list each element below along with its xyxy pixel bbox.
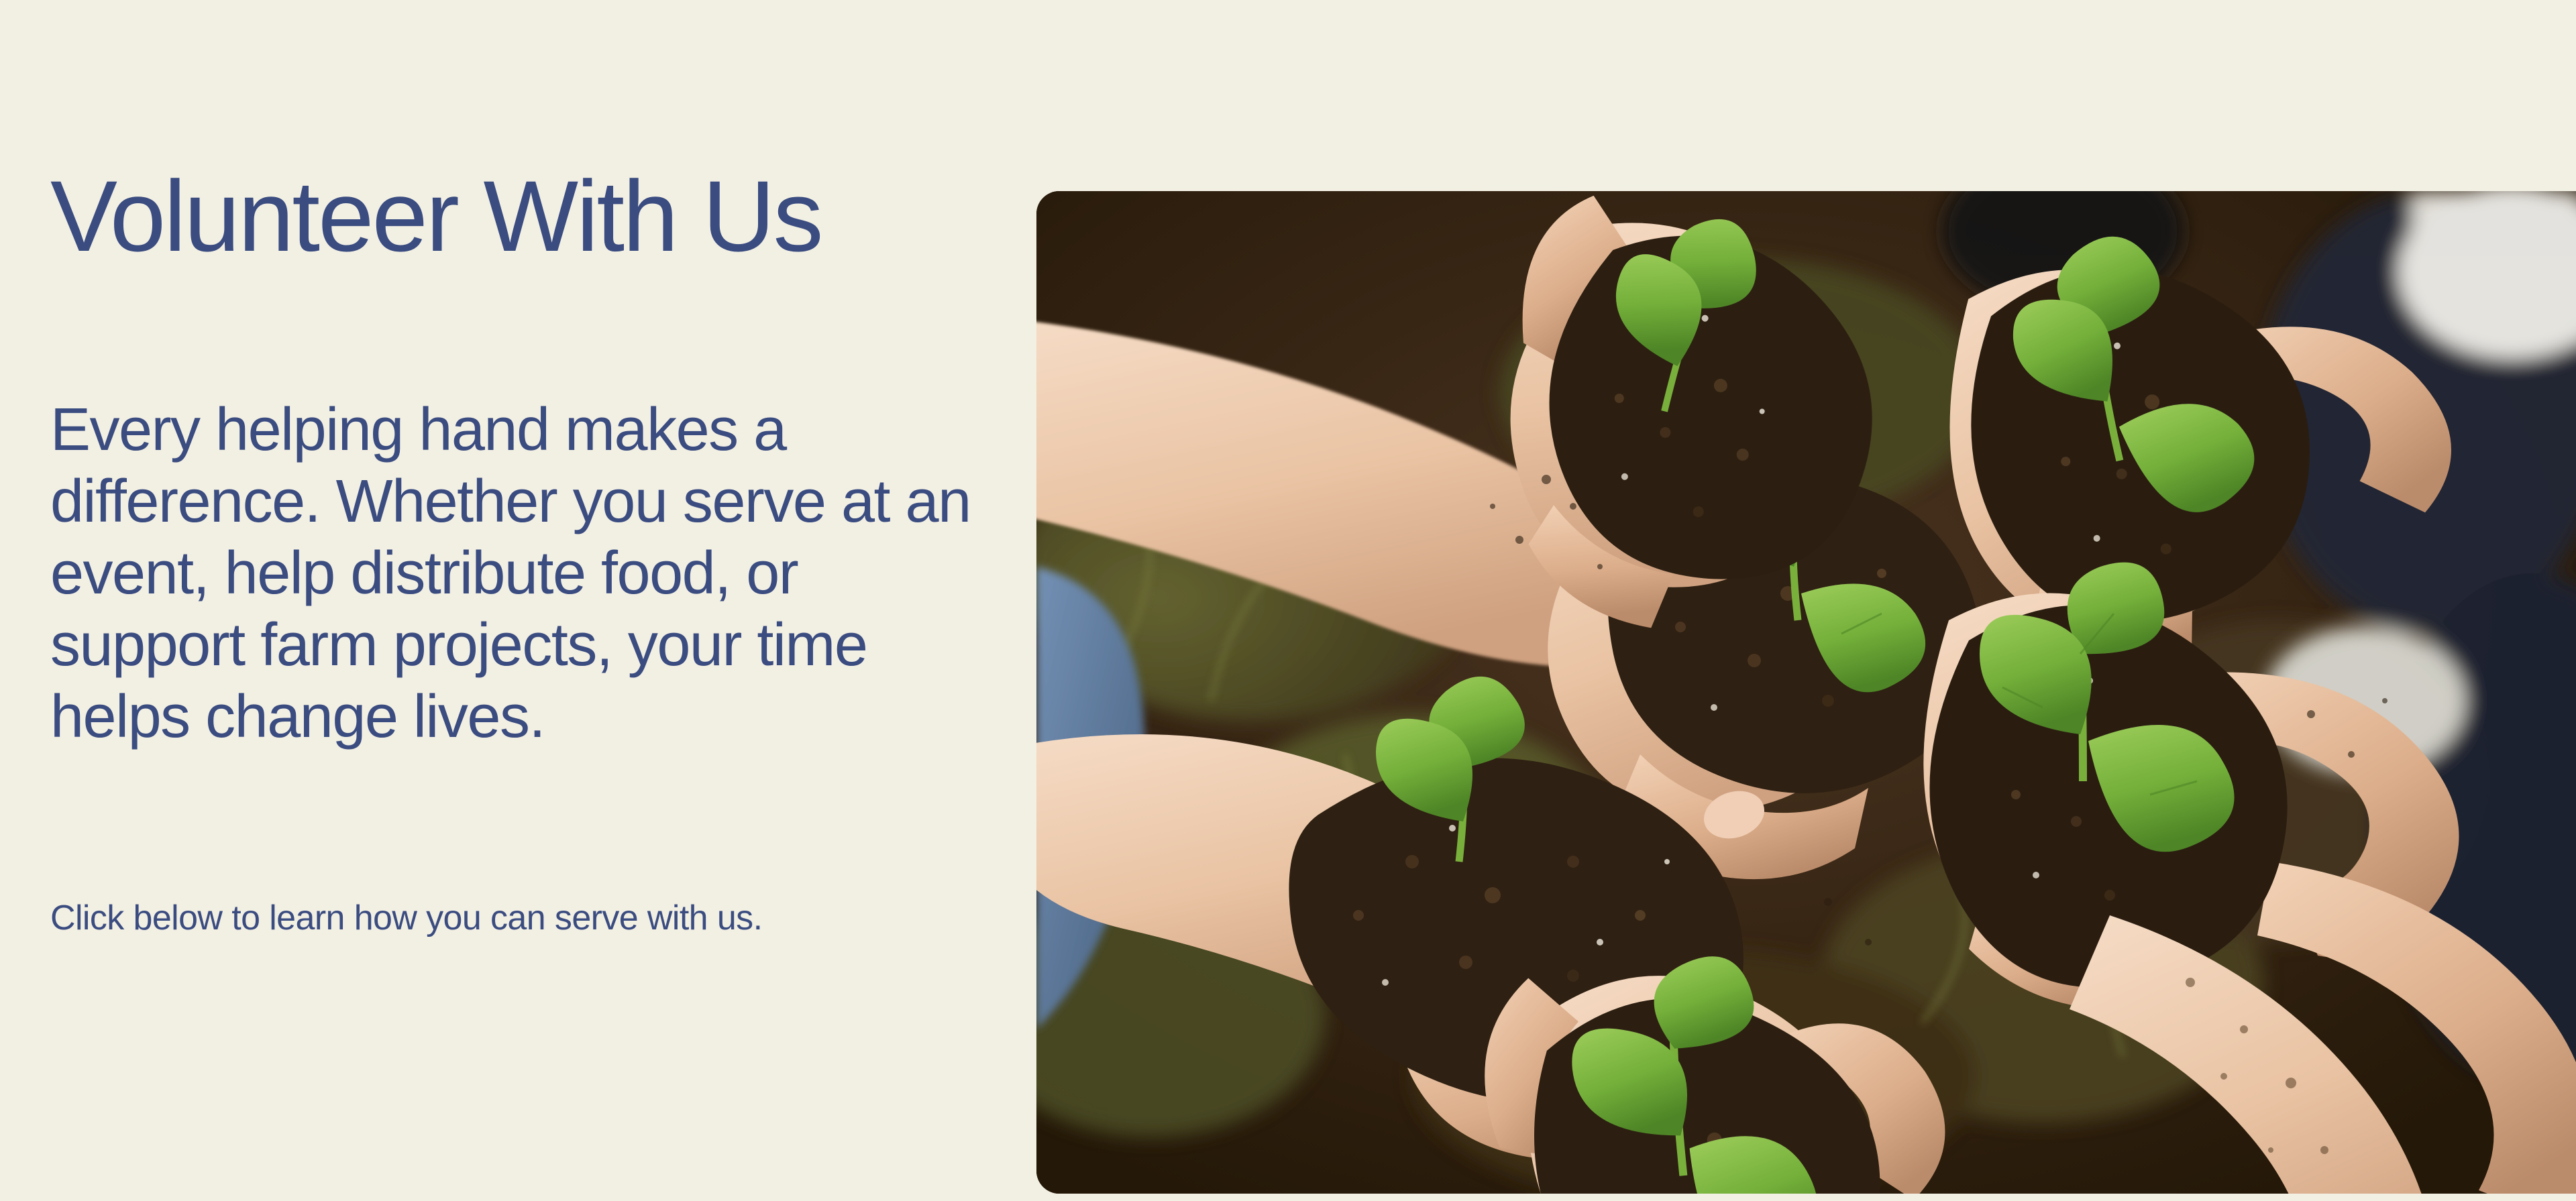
page-title: Volunteer With Us [50, 166, 822, 266]
volunteer-photo [1036, 191, 2576, 1194]
hands-holding-seedlings-image [1036, 191, 2576, 1194]
volunteer-hero-section: Volunteer With Us Every helping hand mak… [0, 0, 2576, 1201]
cta-caption: Click below to learn how you can serve w… [50, 897, 762, 939]
hero-body-text: Every helping hand makes a difference. W… [50, 394, 1003, 753]
hero-text-column: Volunteer With Us Every helping hand mak… [0, 0, 1036, 1201]
